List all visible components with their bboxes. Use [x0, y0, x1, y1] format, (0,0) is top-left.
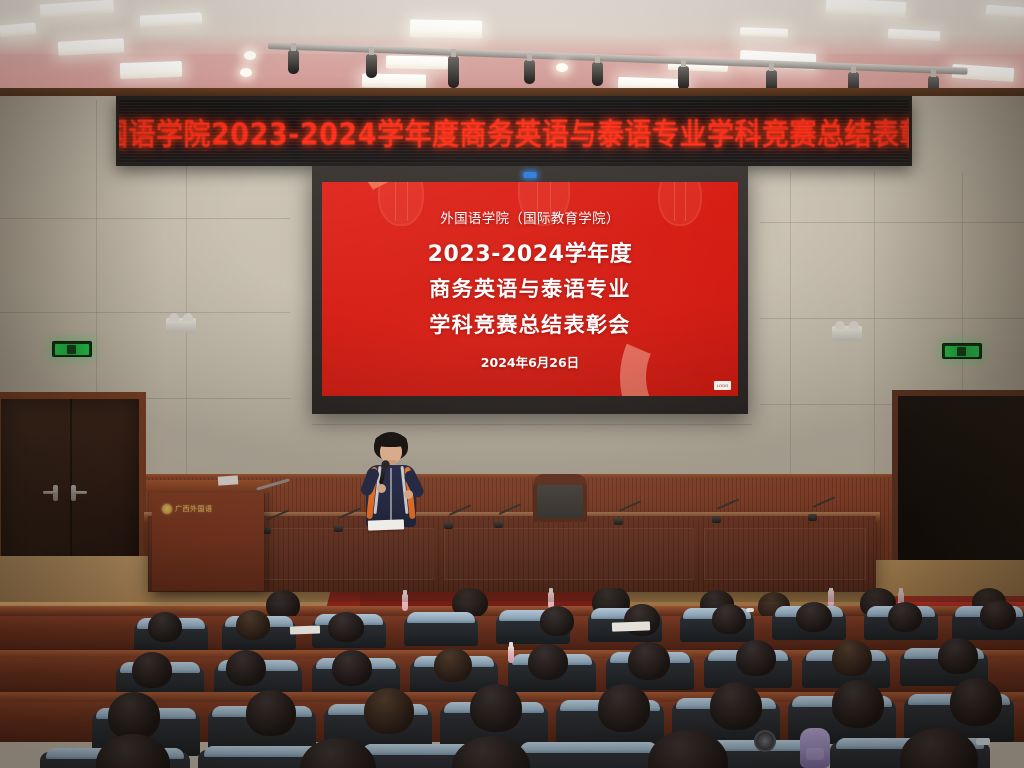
audience-head — [950, 678, 1002, 726]
audience-head — [888, 602, 922, 632]
audience-head — [540, 606, 574, 636]
wall-seam-vertical — [790, 172, 791, 480]
screen-date-line: 2024年6月26日 — [481, 352, 579, 371]
table-front-panel — [444, 528, 694, 580]
audience-head — [598, 684, 650, 732]
table-front-panel — [704, 528, 866, 580]
audience-head — [712, 604, 746, 634]
audience-seat[interactable] — [404, 616, 478, 646]
desk-paper — [290, 625, 320, 634]
exit-icon — [55, 344, 89, 355]
audience-head — [332, 650, 372, 686]
auditorium-photo: 外国语学院2023-2024学年度商务英语与泰语专业学科竞赛总结表彰会 外国语学… — [0, 0, 1024, 768]
track-light-glow — [240, 68, 252, 77]
projection-screen-frame: 外国语学院（国际教育学院） 2023-2024学年度 商务英语与泰语专业 学科竞… — [312, 166, 748, 414]
hair-clip — [746, 608, 754, 612]
wall-seam — [760, 222, 1024, 223]
chair-crest — [533, 474, 587, 485]
screen-title-line-3: 学科竞赛总结表彰会 — [429, 309, 631, 339]
speaker-at-podium — [356, 432, 426, 530]
school-seal-icon — [162, 504, 172, 514]
screen-title-line-2: 商务英语与泰语专业 — [429, 273, 631, 303]
track-spotlight — [366, 54, 377, 78]
emergency-light — [832, 326, 862, 341]
track-spotlight — [448, 56, 459, 88]
audience-head — [132, 652, 172, 688]
wall-seam-vertical — [874, 172, 875, 480]
exit-sign-left — [52, 341, 92, 357]
audience-head — [528, 644, 568, 680]
screen-title-line-1: 2023-2024学年度 — [428, 236, 633, 268]
audience-head — [832, 680, 884, 728]
exit-icon — [945, 346, 979, 357]
audience-head — [980, 600, 1016, 630]
wall-seam — [0, 312, 290, 313]
track-spotlight — [524, 60, 535, 84]
audience-seating — [0, 588, 1024, 768]
audience-head — [710, 682, 762, 730]
audience-head — [236, 610, 270, 640]
ceiling-panel-light — [410, 19, 482, 38]
lectern-papers — [218, 475, 239, 485]
audience-head — [796, 602, 832, 632]
audience-head — [938, 638, 978, 674]
audience-head — [246, 690, 296, 736]
presiding-chair[interactable] — [533, 478, 587, 522]
audience-head — [328, 612, 364, 642]
water-bottle — [402, 594, 408, 611]
audience-head — [628, 642, 670, 680]
projection-screen: 外国语学院（国际教育学院） 2023-2024学年度 商务英语与泰语专业 学科竞… — [322, 182, 738, 396]
desk-microphone[interactable] — [444, 522, 453, 529]
desk-microphone[interactable] — [614, 518, 623, 525]
portable-fan — [754, 730, 776, 752]
track-spotlight — [288, 50, 299, 74]
purple-backpack — [800, 728, 830, 768]
audience-head — [148, 612, 182, 642]
desk-microphone[interactable] — [494, 521, 503, 528]
lectern: 广西外国语 — [152, 487, 264, 591]
exit-sign-right — [942, 343, 982, 359]
lectern-emblem-text: 广西外国语 — [175, 504, 213, 514]
lectern-top-surface — [146, 480, 270, 493]
track-light-glow — [244, 51, 256, 60]
wall-seam — [760, 318, 1024, 319]
track-light-glow — [556, 63, 568, 72]
lectern-emblem: 广西外国语 — [162, 503, 220, 514]
desk-microphone[interactable] — [712, 516, 721, 523]
door-handle-bar-right[interactable] — [73, 491, 87, 494]
screen-corner-badge: LOGO — [714, 381, 731, 390]
audience-head — [736, 640, 776, 676]
led-scrolling-banner: 外国语学院2023-2024学年度商务英语与泰语专业学科竞赛总结表彰会 — [116, 96, 912, 166]
audience-head — [624, 604, 660, 636]
audience-head — [434, 648, 472, 682]
screen-organization-line: 外国语学院（国际教育学院） — [440, 207, 619, 227]
speaker-hand-right — [404, 490, 413, 499]
water-bottle — [828, 590, 834, 607]
ceiling-trim — [0, 88, 1024, 96]
desk-microphone[interactable] — [808, 514, 817, 521]
audience-head — [226, 650, 266, 686]
lantern-motif — [378, 182, 424, 226]
audience-seat[interactable] — [514, 746, 664, 768]
screen-power-led — [524, 172, 537, 178]
water-bottle — [508, 646, 514, 663]
emergency-light — [166, 318, 196, 333]
audience-head — [832, 640, 872, 676]
speaker-notes — [368, 519, 404, 530]
audience-head — [470, 684, 522, 732]
jacket-zipper — [390, 468, 392, 524]
audience-head — [364, 688, 414, 734]
ceiling-panel-light — [740, 27, 788, 38]
lantern-motif — [658, 182, 702, 226]
desk-microphone[interactable] — [334, 525, 343, 532]
ceiling-panel-light — [386, 55, 448, 69]
door-handle-bar-left[interactable] — [43, 491, 57, 494]
track-spotlight — [592, 62, 603, 86]
track-spotlight — [678, 66, 689, 90]
hair-clip — [976, 738, 990, 745]
ceiling-panel-light — [120, 61, 183, 79]
desk-paper — [612, 621, 650, 631]
speaker-hair-fringe — [375, 434, 407, 447]
wall-seam — [0, 218, 290, 219]
audience-head — [108, 692, 160, 740]
wall-seam — [312, 424, 752, 425]
led-banner-text: 外国语学院2023-2024学年度商务英语与泰语专业学科竞赛总结表彰会 — [116, 109, 912, 153]
speaker-hand-left — [377, 484, 386, 493]
